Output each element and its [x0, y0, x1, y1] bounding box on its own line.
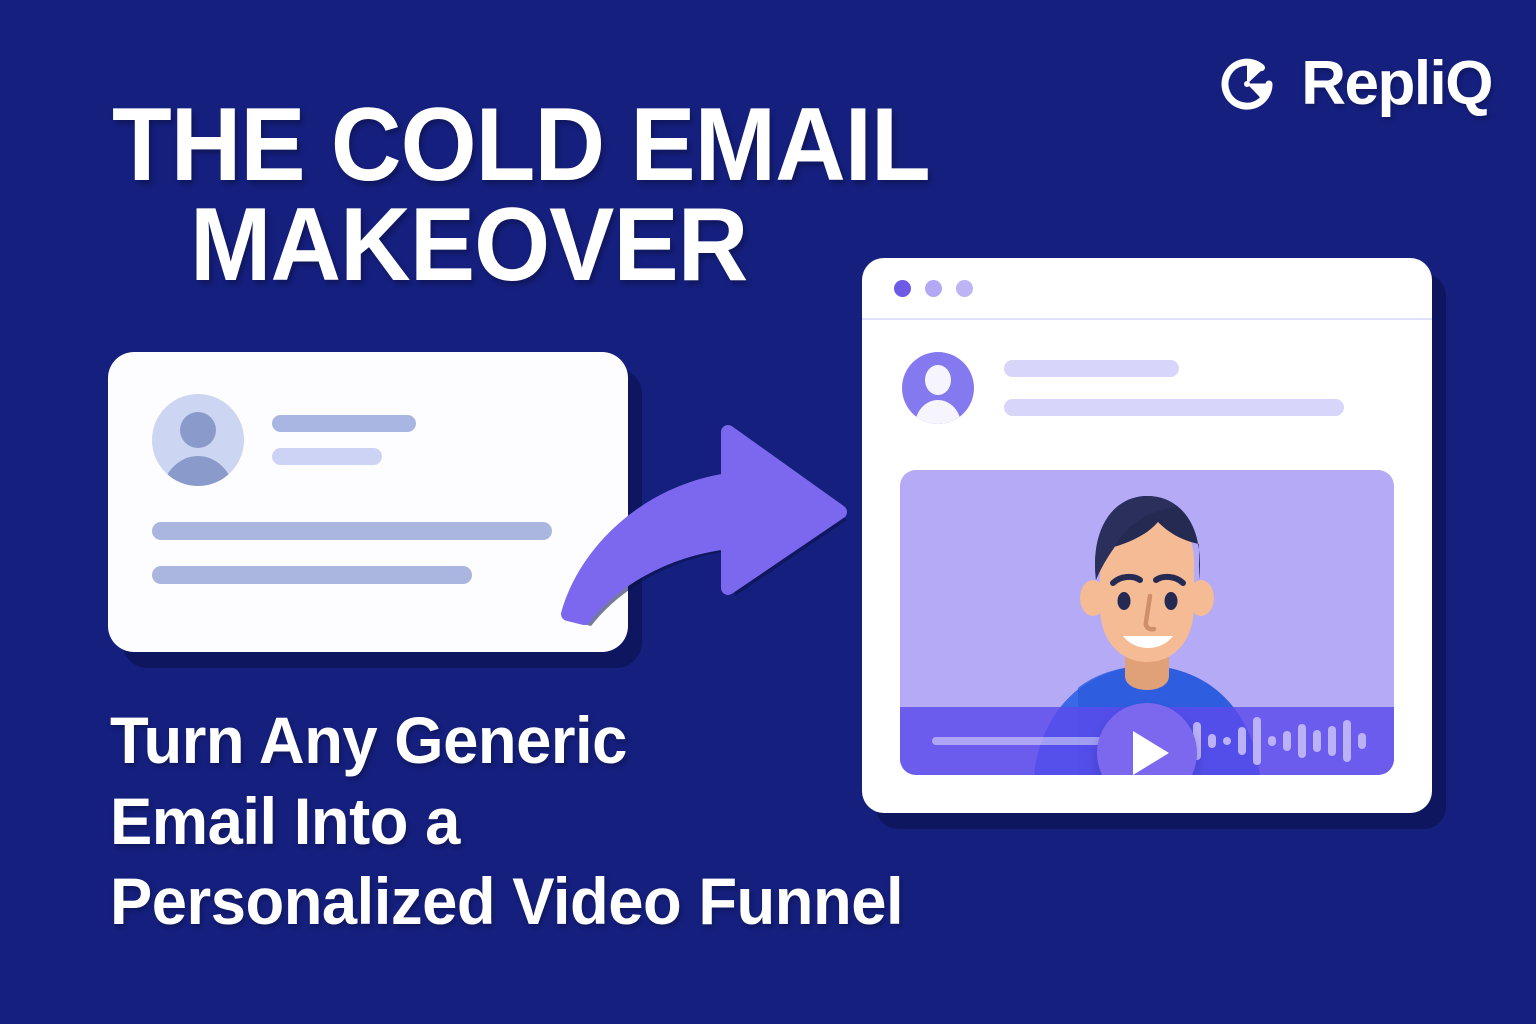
curved-arrow-right-icon	[548, 412, 868, 632]
body-line-1	[152, 522, 552, 540]
avatar-body-shape	[915, 400, 961, 424]
brand-name: RepliQ	[1301, 53, 1492, 115]
close-dot-icon[interactable]	[894, 280, 911, 297]
email-header-bars	[272, 415, 416, 465]
user-avatar-icon	[902, 352, 974, 424]
avatar-head-shape	[180, 412, 216, 448]
recipient-name-bar	[1004, 360, 1179, 377]
play-triangle-shape	[1133, 731, 1169, 775]
email-body-bars	[152, 522, 552, 584]
body-line-2	[152, 566, 472, 584]
brand-logo: RepliQ	[1211, 48, 1492, 120]
avatar-head-shape	[925, 365, 951, 395]
headline-line-1: THE COLD EMAIL	[112, 96, 977, 196]
maximize-dot-icon[interactable]	[956, 280, 973, 297]
avatar-body-shape	[161, 456, 235, 486]
user-avatar-icon	[152, 394, 244, 486]
email-card-header	[152, 394, 416, 486]
subtitle-line-3: Personalized Video Funnel	[110, 861, 1070, 942]
poster-canvas: RepliQ THE COLD EMAIL MAKEOVER	[0, 0, 1536, 1024]
browser-title-bar	[862, 258, 1432, 320]
message-header	[902, 352, 1344, 424]
sender-subject-bar	[272, 448, 382, 465]
message-header-bars	[1004, 360, 1344, 416]
curved-arrow-shape	[548, 412, 868, 632]
message-line-bar	[1004, 399, 1344, 416]
subtitle-line-1: Turn Any Generic	[110, 700, 1070, 781]
sender-name-bar	[272, 415, 416, 432]
repliq-circle-wedge-icon	[1211, 48, 1283, 120]
subtitle: Turn Any Generic Email Into a Personaliz…	[110, 700, 1110, 942]
minimize-dot-icon[interactable]	[925, 280, 942, 297]
subtitle-line-2: Email Into a	[110, 781, 1070, 862]
